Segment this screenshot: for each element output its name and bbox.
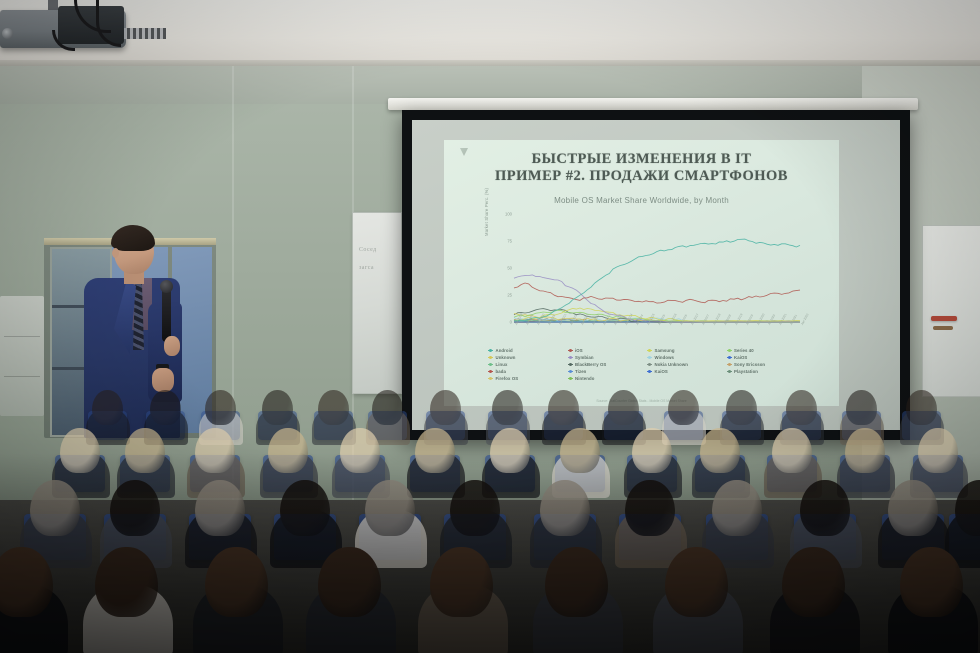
legend-label: Nokia Unknown	[655, 362, 689, 367]
legend-item[interactable]: Linux	[488, 362, 560, 367]
audience-head	[95, 547, 158, 617]
legend-item[interactable]: Symbian	[568, 355, 640, 360]
audience-head	[30, 480, 80, 536]
presenter-hair	[111, 225, 155, 251]
audience-head	[205, 390, 236, 425]
legend-item[interactable]: Series 40	[727, 348, 799, 353]
presenter-hand	[164, 336, 180, 356]
legend-label: iOS	[575, 348, 583, 353]
legend-marker-icon	[488, 348, 493, 353]
audience-head	[712, 480, 762, 536]
legend-label: Symbian	[575, 355, 594, 360]
chart-title: Mobile OS Market Share Worldwide, by Mon…	[444, 196, 839, 205]
legend-item[interactable]: BlackBerry OS	[568, 362, 640, 367]
legend-label: Series 40	[734, 348, 754, 353]
legend-item[interactable]: Nokia Unknown	[647, 362, 719, 367]
legend-label: Windows	[655, 355, 675, 360]
x-axis-tick: Jan 2022	[800, 313, 810, 326]
marker-red	[931, 316, 957, 321]
audience-head	[845, 428, 885, 473]
lecture-hall-photo: Сосед загса БЫСТРЫЕ ИЗМЕНЕНИЯ В IT ПРИМЕ…	[0, 0, 980, 653]
audience-head	[846, 390, 877, 425]
slide-title-line-1: БЫСТРЫЕ ИЗМЕНЕНИЯ В IT	[444, 151, 839, 168]
whiteboard-text-line-2: загса	[359, 265, 374, 271]
legend-marker-icon	[647, 362, 652, 367]
audience-head	[668, 390, 699, 425]
legend-marker-icon	[488, 355, 493, 360]
screen-housing	[388, 98, 918, 110]
legend-item[interactable]: Windows	[647, 355, 719, 360]
y-axis-tick: 25	[507, 293, 512, 298]
audience-head	[632, 428, 672, 473]
audience-head	[450, 480, 500, 536]
microphone	[162, 286, 171, 342]
legend-marker-icon	[568, 355, 573, 360]
microphone-head-icon	[160, 280, 173, 293]
whiteboard-text-line-1: Сосед	[359, 247, 377, 253]
legend-label: Samsung	[655, 348, 675, 353]
y-axis-tick: 0	[510, 320, 512, 325]
audience-head	[125, 428, 165, 473]
legend-item[interactable]: Sony Ericsson	[727, 362, 799, 367]
legend-item[interactable]: Samsung	[647, 348, 719, 353]
audience-head	[700, 428, 740, 473]
chart-plot-area	[514, 214, 800, 323]
y-axis-tick: 100	[505, 212, 512, 217]
projector-lens	[2, 28, 13, 39]
audience-seating	[0, 372, 980, 653]
presenter-ear	[112, 248, 119, 258]
y-axis-label: Market Share Perc. (%)	[484, 176, 489, 236]
line-chart: Market Share Perc. (%) 0255075100 Jan 20…	[486, 214, 806, 344]
projector-ports	[124, 28, 166, 39]
legend-marker-icon	[647, 348, 652, 353]
audience-head	[900, 547, 963, 617]
legend-marker-icon	[647, 355, 652, 360]
legend-marker-icon	[727, 362, 732, 367]
audience-head	[415, 428, 455, 473]
audience-head	[888, 480, 938, 536]
legend-item[interactable]: KaiOS	[727, 355, 799, 360]
audience-head	[340, 428, 380, 473]
audience-head	[60, 428, 100, 473]
audience-head	[195, 480, 245, 536]
audience-head	[92, 390, 123, 425]
legend-label: Unknown	[496, 355, 516, 360]
whiteboard-left: Сосед загса	[352, 212, 402, 394]
legend-label: Sony Ericsson	[734, 362, 765, 367]
audience-head	[280, 480, 330, 536]
marker-brown	[933, 326, 953, 330]
audience-head	[372, 390, 403, 425]
audience-head	[205, 547, 268, 617]
legend-marker-icon	[727, 348, 732, 353]
slide-title-line-2: ПРИМЕР #2. ПРОДАЖИ СМАРТФОНОВ	[444, 168, 839, 185]
legend-item[interactable]: Android	[488, 348, 560, 353]
audience-head	[492, 390, 523, 425]
legend-label: Linux	[496, 362, 508, 367]
legend-marker-icon	[727, 355, 732, 360]
audience-head	[625, 480, 675, 536]
audience-head	[782, 547, 845, 617]
audience-head	[262, 390, 293, 425]
audience-head	[906, 390, 937, 425]
y-axis-ticks: 0255075100	[492, 214, 512, 322]
legend-label: BlackBerry OS	[575, 362, 606, 367]
audience-head	[665, 547, 728, 617]
audience-head	[110, 480, 160, 536]
audience-head	[800, 480, 850, 536]
audience-head	[490, 428, 530, 473]
audience-head	[918, 428, 958, 473]
y-axis-tick: 50	[507, 266, 512, 271]
audience-head	[548, 390, 579, 425]
audience-head	[545, 547, 608, 617]
audience-head	[150, 390, 181, 425]
legend-label: Android	[496, 348, 513, 353]
audience-head	[268, 428, 308, 473]
audience-head	[786, 390, 817, 425]
audience-head	[430, 547, 493, 617]
audience-head	[560, 428, 600, 473]
audience-head	[195, 428, 235, 473]
legend-item[interactable]: Unknown	[488, 355, 560, 360]
legend-marker-icon	[568, 362, 573, 367]
chart-line-ios	[514, 283, 800, 303]
presentation-slide: БЫСТРЫЕ ИЗМЕНЕНИЯ В IT ПРИМЕР #2. ПРОДАЖ…	[444, 140, 839, 406]
audience-head	[318, 390, 349, 425]
audience-head	[772, 428, 812, 473]
legend-marker-icon	[488, 362, 493, 367]
slide-title: БЫСТРЫЕ ИЗМЕНЕНИЯ В IT ПРИМЕР #2. ПРОДАЖ…	[444, 151, 839, 185]
audience-head	[726, 390, 757, 425]
y-axis-tick: 75	[507, 239, 512, 244]
audience-head	[540, 480, 590, 536]
legend-label: KaiOS	[734, 355, 747, 360]
legend-marker-icon	[568, 348, 573, 353]
audience-head	[430, 390, 461, 425]
audience-head	[318, 547, 381, 617]
audience-head	[365, 480, 415, 536]
legend-item[interactable]: iOS	[568, 348, 640, 353]
chart-line-symbian	[514, 275, 800, 322]
audience-head	[608, 390, 639, 425]
x-axis-ticks: Jan 2009Jul 2009Jan 2010Jul 2010Jan 2011…	[514, 324, 800, 346]
chart-lines	[514, 214, 800, 322]
